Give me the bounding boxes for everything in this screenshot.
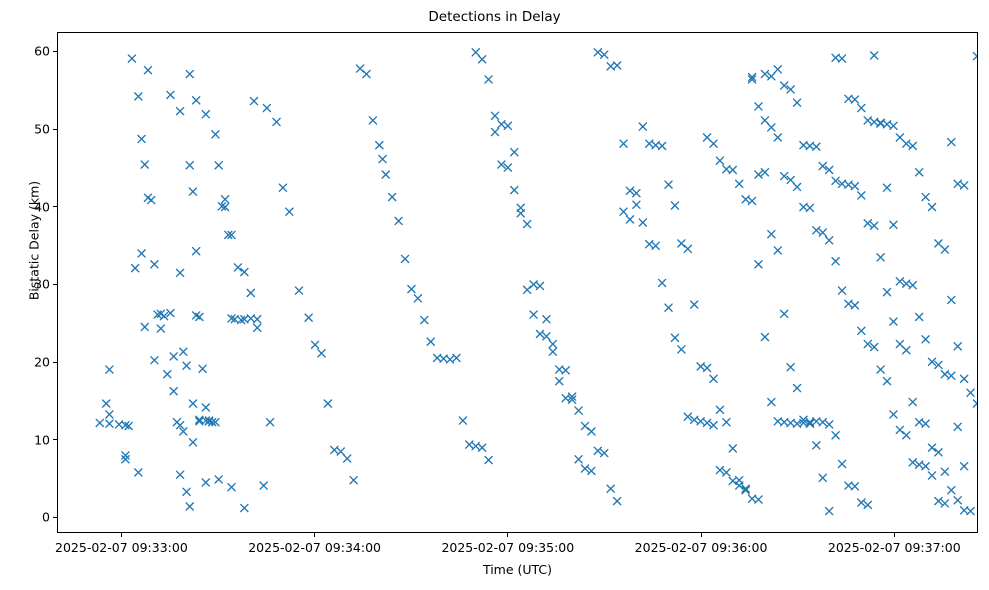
scatter-marker — [363, 70, 370, 77]
scatter-marker — [141, 161, 148, 168]
scatter-marker — [736, 477, 743, 484]
scatter-marker — [177, 269, 184, 276]
scatter-marker — [671, 334, 678, 341]
scatter-marker — [890, 318, 897, 325]
scatter-points — [58, 33, 977, 532]
scatter-marker — [851, 302, 858, 309]
x-axis-label: Time (UTC) — [57, 562, 978, 577]
y-tick-mark — [53, 284, 57, 285]
scatter-marker — [723, 419, 730, 426]
scatter-marker — [716, 157, 723, 164]
scatter-marker — [948, 138, 955, 145]
scatter-marker — [453, 354, 460, 361]
y-tick-mark — [53, 439, 57, 440]
scatter-marker — [141, 323, 148, 330]
scatter-marker — [761, 169, 768, 176]
scatter-marker — [883, 289, 890, 296]
scatter-marker — [491, 112, 498, 119]
scatter-marker — [851, 483, 858, 490]
scatter-marker — [183, 488, 190, 495]
y-tick-label: 60 — [34, 44, 50, 59]
x-tick-mark — [314, 533, 315, 537]
scatter-marker — [768, 73, 775, 80]
y-tick-mark — [53, 362, 57, 363]
scatter-marker — [691, 301, 698, 308]
scatter-marker — [620, 208, 627, 215]
scatter-marker — [106, 411, 113, 418]
scatter-marker — [858, 327, 865, 334]
scatter-marker — [652, 242, 659, 249]
scatter-marker — [871, 52, 878, 59]
scatter-marker — [588, 467, 595, 474]
scatter-marker — [858, 104, 865, 111]
scatter-marker — [973, 53, 977, 60]
y-tick-label: 20 — [34, 355, 50, 370]
scatter-marker — [864, 220, 871, 227]
scatter-marker — [928, 472, 935, 479]
scatter-marker — [193, 97, 200, 104]
scatter-marker — [241, 504, 248, 511]
scatter-marker — [883, 378, 890, 385]
scatter-marker — [877, 366, 884, 373]
scatter-marker — [186, 70, 193, 77]
scatter-marker — [581, 422, 588, 429]
scatter-marker — [678, 346, 685, 353]
scatter-marker — [774, 66, 781, 73]
x-tick-label: 2025-02-07 09:37:00 — [828, 540, 961, 555]
scatter-marker — [177, 471, 184, 478]
scatter-marker — [916, 313, 923, 320]
scatter-marker — [581, 465, 588, 472]
scatter-marker — [157, 325, 164, 332]
scatter-marker — [376, 142, 383, 149]
scatter-marker — [742, 487, 749, 494]
scatter-marker — [961, 182, 968, 189]
y-tick-label: 0 — [42, 510, 50, 525]
scatter-marker — [193, 248, 200, 255]
scatter-marker — [614, 62, 621, 69]
scatter-marker — [967, 508, 974, 515]
scatter-marker — [132, 265, 139, 272]
scatter-marker — [286, 208, 293, 215]
scatter-marker — [922, 463, 929, 470]
scatter-marker — [379, 156, 386, 163]
scatter-marker — [948, 487, 955, 494]
scatter-marker — [254, 316, 261, 323]
scatter-marker — [517, 210, 524, 217]
scatter-marker — [883, 184, 890, 191]
scatter-marker — [678, 240, 685, 247]
scatter-marker — [671, 202, 678, 209]
scatter-marker — [665, 181, 672, 188]
scatter-marker — [793, 99, 800, 106]
scatter-marker — [96, 419, 103, 426]
y-tick-label: 40 — [34, 199, 50, 214]
scatter-marker — [202, 111, 209, 118]
scatter-marker — [710, 422, 717, 429]
scatter-marker — [626, 216, 633, 223]
y-tick-label: 10 — [34, 432, 50, 447]
scatter-marker — [148, 197, 155, 204]
scatter-marker — [389, 193, 396, 200]
scatter-marker — [215, 162, 222, 169]
scatter-marker — [279, 184, 286, 191]
y-tick-label: 50 — [34, 122, 50, 137]
scatter-marker — [344, 455, 351, 462]
scatter-marker — [263, 104, 270, 111]
scatter-marker — [135, 93, 142, 100]
scatter-marker — [665, 304, 672, 311]
scatter-marker — [549, 340, 556, 347]
scatter-marker — [838, 55, 845, 62]
scatter-marker — [588, 428, 595, 435]
scatter-marker — [896, 278, 903, 285]
scatter-marker — [755, 261, 762, 268]
scatter-marker — [703, 419, 710, 426]
scatter-marker — [408, 285, 415, 292]
scatter-marker — [761, 117, 768, 124]
scatter-marker — [221, 196, 228, 203]
scatter-marker — [954, 343, 961, 350]
scatter-marker — [793, 385, 800, 392]
scatter-marker — [106, 420, 113, 427]
scatter-marker — [916, 169, 923, 176]
scatter-marker — [941, 500, 948, 507]
scatter-marker — [543, 316, 550, 323]
scatter-marker — [903, 347, 910, 354]
scatter-marker — [202, 404, 209, 411]
scatter-marker — [524, 221, 531, 228]
x-tick-label: 2025-02-07 09:36:00 — [635, 540, 768, 555]
scatter-marker — [485, 76, 492, 83]
scatter-marker — [311, 341, 318, 348]
scatter-marker — [813, 442, 820, 449]
scatter-marker — [186, 503, 193, 510]
scatter-marker — [941, 246, 948, 253]
x-tick-mark — [507, 533, 508, 537]
x-tick-mark — [894, 533, 895, 537]
scatter-marker — [479, 56, 486, 63]
scatter-marker — [922, 336, 929, 343]
scatter-marker — [774, 134, 781, 141]
scatter-marker — [851, 96, 858, 103]
scatter-marker — [491, 128, 498, 135]
scatter-marker — [819, 229, 826, 236]
scatter-marker — [524, 286, 531, 293]
scatter-marker — [716, 467, 723, 474]
scatter-marker — [659, 142, 666, 149]
scatter-marker — [864, 501, 871, 508]
scatter-marker — [607, 485, 614, 492]
scatter-marker — [819, 474, 826, 481]
scatter-marker — [189, 188, 196, 195]
scatter-marker — [594, 49, 601, 56]
scatter-marker — [896, 426, 903, 433]
scatter-marker — [890, 122, 897, 129]
scatter-marker — [961, 463, 968, 470]
scatter-marker — [633, 201, 640, 208]
scatter-marker — [138, 250, 145, 257]
scatter-marker — [601, 450, 608, 457]
scatter-marker — [594, 447, 601, 454]
scatter-marker — [318, 350, 325, 357]
scatter-marker — [479, 444, 486, 451]
x-tick-mark — [121, 533, 122, 537]
scatter-marker — [369, 117, 376, 124]
scatter-marker — [106, 366, 113, 373]
scatter-marker — [459, 417, 466, 424]
scatter-marker — [948, 296, 955, 303]
scatter-marker — [851, 183, 858, 190]
scatter-marker — [273, 118, 280, 125]
scatter-marker — [414, 295, 421, 302]
scatter-marker — [774, 247, 781, 254]
scatter-marker — [266, 419, 273, 426]
scatter-marker — [954, 423, 961, 430]
scatter-marker — [536, 330, 543, 337]
scatter-marker — [748, 197, 755, 204]
scatter-marker — [755, 496, 762, 503]
scatter-marker — [826, 421, 833, 428]
scatter-marker — [601, 51, 608, 58]
x-tick-label: 2025-02-07 09:35:00 — [441, 540, 574, 555]
scatter-marker — [202, 479, 209, 486]
scatter-marker — [858, 499, 865, 506]
scatter-marker — [639, 123, 646, 130]
scatter-marker — [832, 258, 839, 265]
scatter-marker — [729, 166, 736, 173]
y-tick-mark — [53, 51, 57, 52]
scatter-marker — [941, 468, 948, 475]
matplotlib-figure: Detections in Delay Bistatic Delay (km) … — [0, 0, 989, 590]
scatter-marker — [813, 227, 820, 234]
scatter-marker — [922, 193, 929, 200]
scatter-marker — [103, 400, 110, 407]
scatter-marker — [684, 245, 691, 252]
scatter-marker — [183, 362, 190, 369]
scatter-marker — [626, 187, 633, 194]
scatter-marker — [151, 357, 158, 364]
scatter-marker — [877, 254, 884, 261]
scatter-marker — [806, 204, 813, 211]
scatter-marker — [395, 217, 402, 224]
scatter-marker — [549, 348, 556, 355]
scatter-marker — [260, 482, 267, 489]
scatter-marker — [180, 348, 187, 355]
scatter-marker — [186, 162, 193, 169]
scatter-marker — [755, 171, 762, 178]
scatter-marker — [723, 469, 730, 476]
scatter-marker — [903, 432, 910, 439]
scatter-marker — [948, 372, 955, 379]
scatter-marker — [768, 124, 775, 131]
scatter-marker — [247, 289, 254, 296]
scatter-marker — [337, 448, 344, 455]
scatter-marker — [170, 388, 177, 395]
scatter-marker — [703, 364, 710, 371]
scatter-marker — [575, 456, 582, 463]
scatter-marker — [716, 406, 723, 413]
plot-area — [57, 32, 978, 533]
x-tick-mark — [701, 533, 702, 537]
scatter-marker — [511, 186, 518, 193]
scatter-marker — [128, 55, 135, 62]
scatter-marker — [189, 400, 196, 407]
y-tick-mark — [53, 129, 57, 130]
scatter-marker — [427, 338, 434, 345]
scatter-marker — [485, 456, 492, 463]
scatter-marker — [710, 140, 717, 147]
scatter-marker — [421, 316, 428, 323]
scatter-marker — [511, 149, 518, 156]
scatter-marker — [928, 444, 935, 451]
scatter-marker — [928, 203, 935, 210]
y-tick-mark — [53, 517, 57, 518]
y-axis-tick-labels: 0102030405060 — [0, 0, 50, 590]
scatter-marker — [903, 140, 910, 147]
scatter-marker — [620, 140, 627, 147]
scatter-marker — [781, 310, 788, 317]
scatter-marker — [356, 65, 363, 72]
scatter-marker — [135, 469, 142, 476]
x-tick-label: 2025-02-07 09:34:00 — [248, 540, 381, 555]
scatter-marker — [909, 459, 916, 466]
scatter-marker — [729, 445, 736, 452]
scatter-marker — [736, 180, 743, 187]
scatter-marker — [170, 353, 177, 360]
scatter-marker — [793, 183, 800, 190]
scatter-marker — [787, 364, 794, 371]
x-tick-label: 2025-02-07 09:33:00 — [55, 540, 188, 555]
scatter-marker — [819, 419, 826, 426]
scatter-marker — [199, 365, 206, 372]
y-tick-label: 30 — [34, 277, 50, 292]
scatter-marker — [935, 497, 942, 504]
scatter-marker — [710, 375, 717, 382]
scatter-marker — [639, 219, 646, 226]
scatter-marker — [768, 231, 775, 238]
page-title: Detections in Delay — [0, 9, 989, 25]
scatter-marker — [890, 411, 897, 418]
scatter-marker — [909, 398, 916, 405]
scatter-marker — [838, 460, 845, 467]
y-tick-mark — [53, 206, 57, 207]
scatter-marker — [562, 367, 569, 374]
scatter-marker — [324, 400, 331, 407]
scatter-marker — [189, 439, 196, 446]
scatter-marker — [909, 282, 916, 289]
scatter-marker — [305, 314, 312, 321]
scatter-marker — [228, 484, 235, 491]
scatter-marker — [556, 378, 563, 385]
scatter-marker — [633, 190, 640, 197]
scatter-marker — [826, 237, 833, 244]
scatter-marker — [144, 67, 151, 74]
scatter-marker — [167, 91, 174, 98]
scatter-marker — [530, 311, 537, 318]
scatter-marker — [536, 282, 543, 289]
scatter-marker — [761, 333, 768, 340]
scatter-marker — [250, 97, 257, 104]
scatter-marker — [954, 497, 961, 504]
scatter-marker — [350, 477, 357, 484]
scatter-marker — [961, 375, 968, 382]
scatter-marker — [504, 122, 511, 129]
scatter-marker — [241, 268, 248, 275]
scatter-marker — [922, 420, 929, 427]
scatter-marker — [826, 508, 833, 515]
scatter-marker — [813, 143, 820, 150]
scatter-marker — [138, 135, 145, 142]
scatter-marker — [212, 131, 219, 138]
scatter-marker — [151, 261, 158, 268]
scatter-marker — [832, 432, 839, 439]
scatter-marker — [909, 142, 916, 149]
scatter-marker — [472, 49, 479, 56]
scatter-marker — [967, 389, 974, 396]
scatter-marker — [575, 407, 582, 414]
scatter-marker — [935, 449, 942, 456]
scatter-marker — [755, 103, 762, 110]
scatter-marker — [543, 333, 550, 340]
scatter-marker — [973, 400, 977, 407]
scatter-marker — [614, 497, 621, 504]
scatter-marker — [838, 287, 845, 294]
scatter-marker — [382, 171, 389, 178]
scatter-marker — [122, 452, 129, 459]
scatter-marker — [177, 108, 184, 115]
scatter-marker — [215, 476, 222, 483]
scatter-marker — [768, 398, 775, 405]
scatter-marker — [761, 70, 768, 77]
scatter-marker — [122, 456, 129, 463]
scatter-marker — [295, 287, 302, 294]
scatter-marker — [401, 255, 408, 262]
scatter-marker — [890, 221, 897, 228]
scatter-marker — [164, 371, 171, 378]
scatter-marker — [234, 264, 241, 271]
scatter-marker — [871, 222, 878, 229]
scatter-marker — [254, 324, 261, 331]
scatter-marker — [659, 279, 666, 286]
scatter-marker — [858, 192, 865, 199]
